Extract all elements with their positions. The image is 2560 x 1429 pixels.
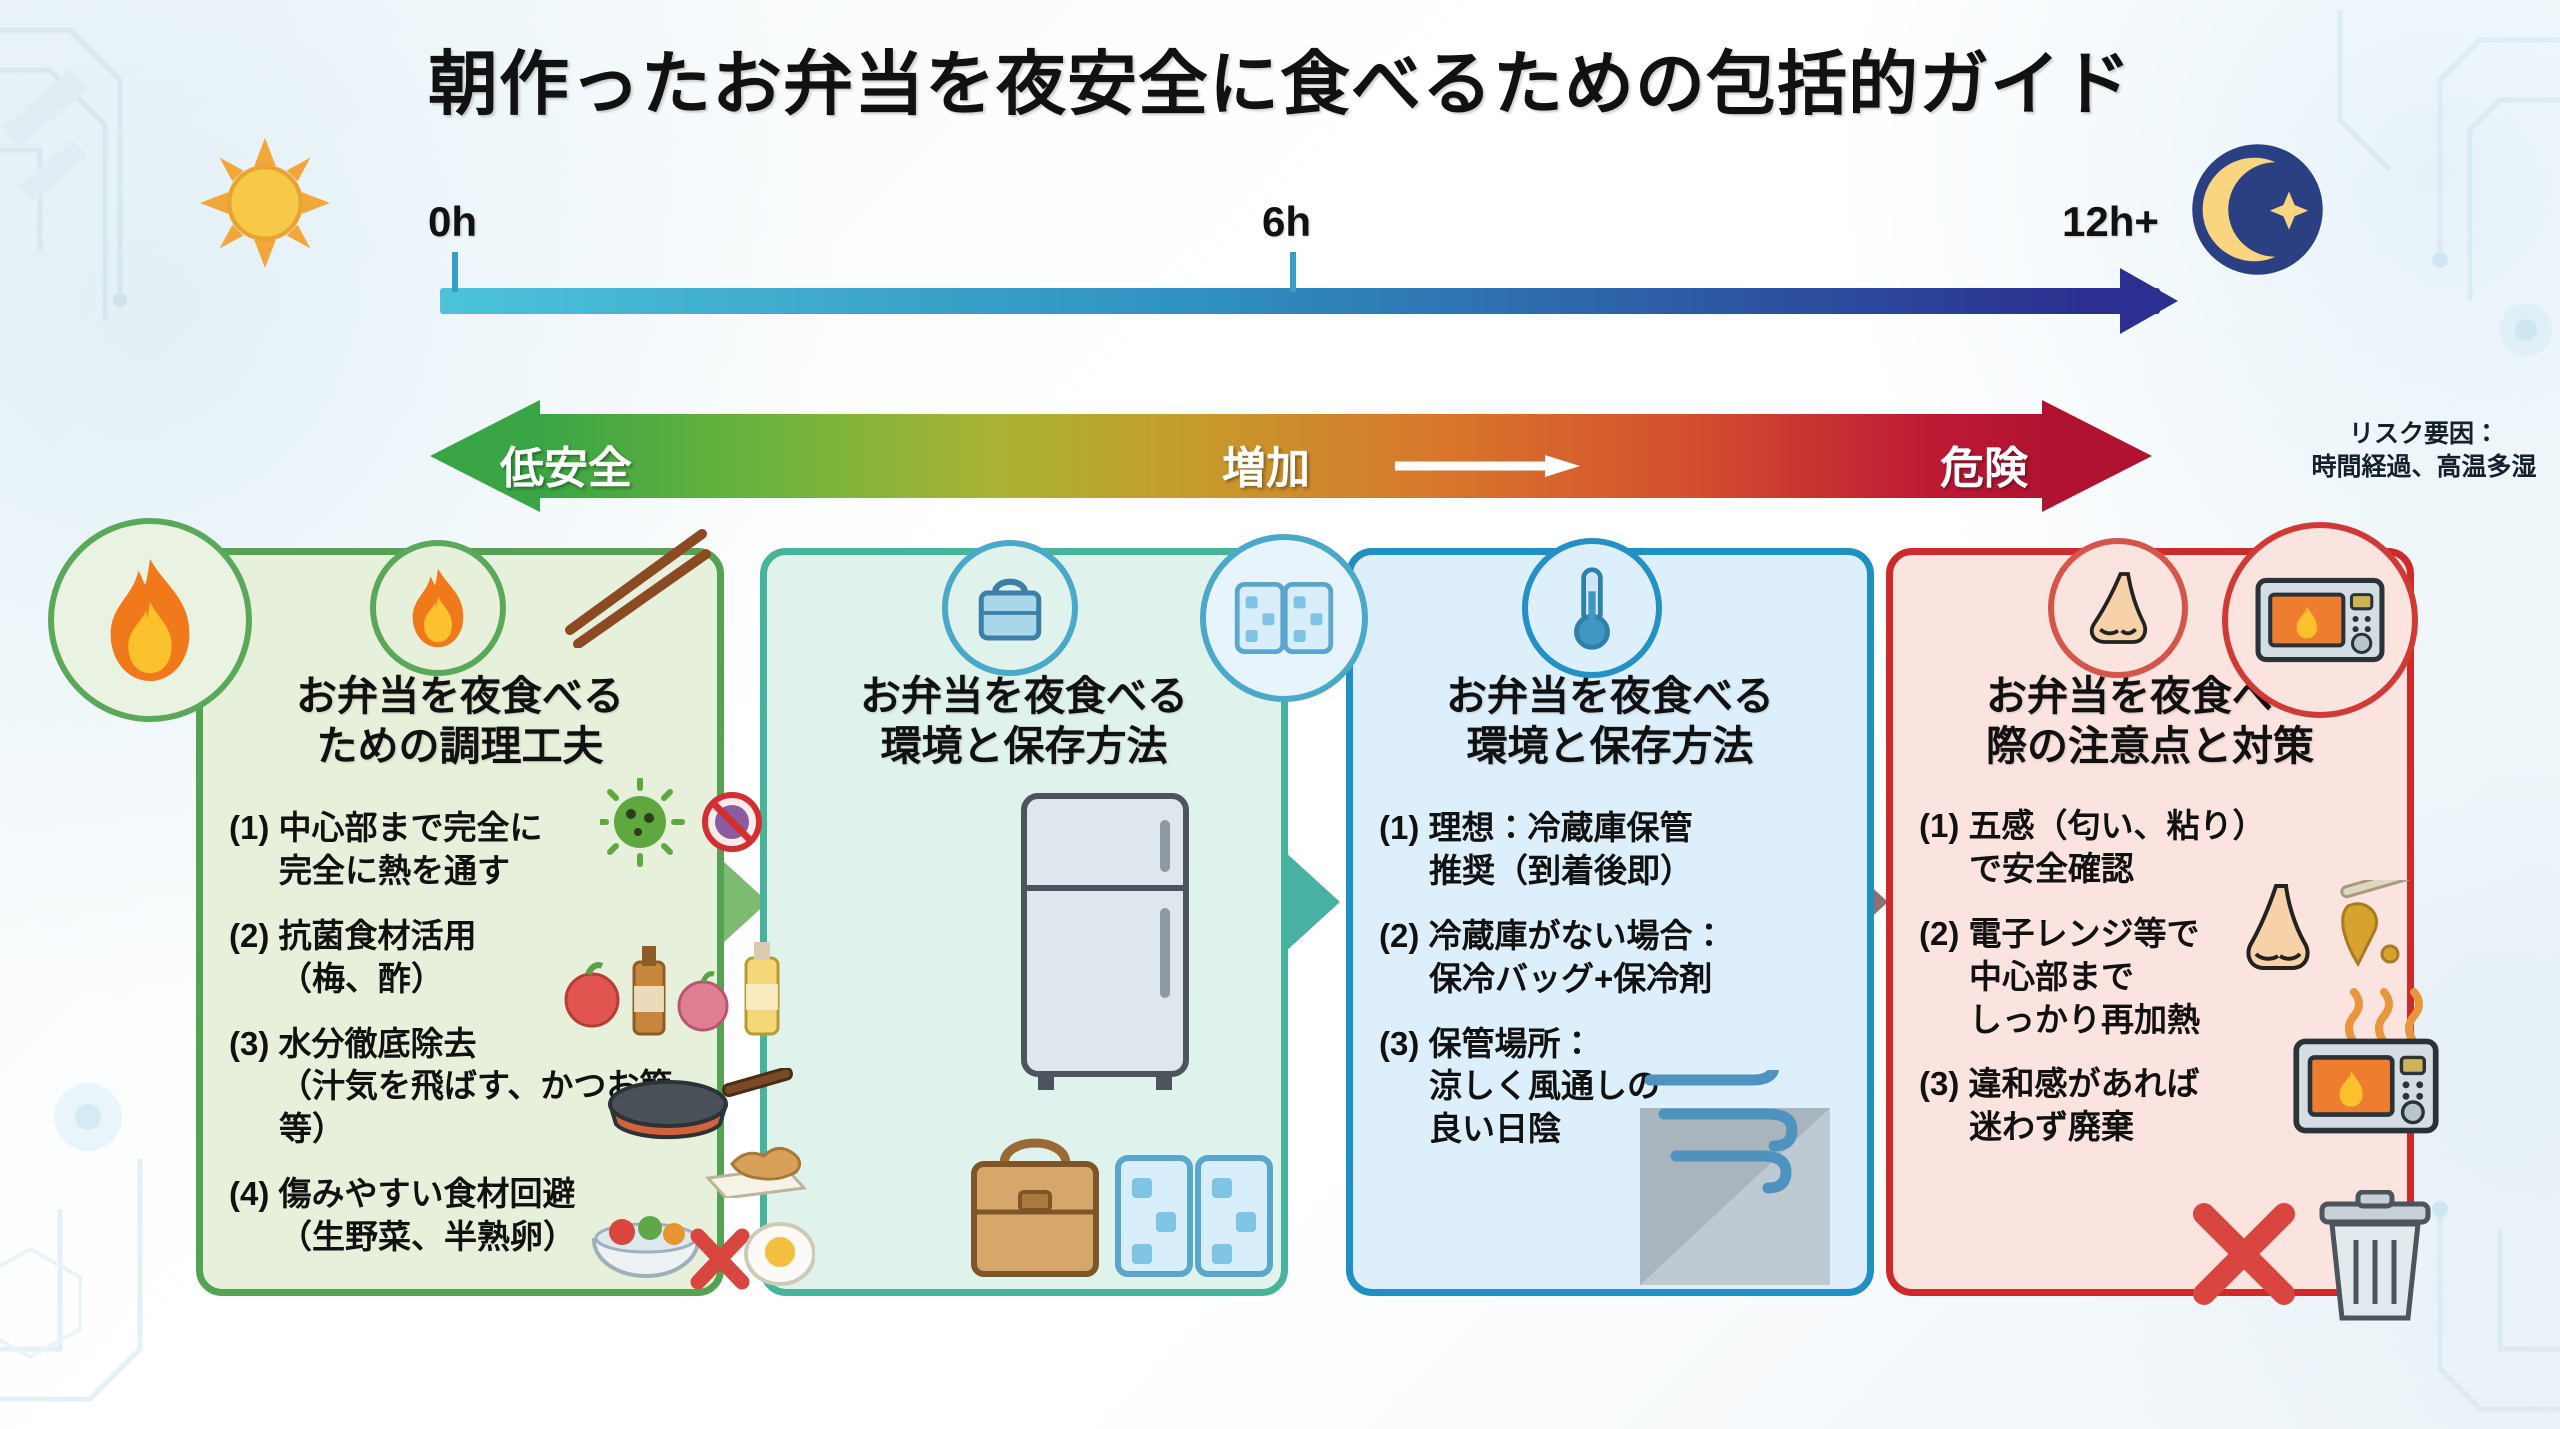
timeline-tick-0h <box>452 252 458 292</box>
salad-egg-cross-icons <box>590 1188 815 1303</box>
card-title-line: お弁当を夜食べる <box>787 671 1261 721</box>
card-1-title: お弁当を夜食べるための調理工夫 <box>223 671 697 771</box>
lunch-bag-badge <box>942 540 1078 676</box>
fire-icon <box>90 555 210 685</box>
thermometer-badge <box>1522 538 1662 678</box>
page-title: 朝作ったお弁当を夜安全に食べるための包括的ガイド <box>0 28 2560 129</box>
list-item-sub: 推奨（到着後即） <box>1379 850 1849 893</box>
card-title-line: ための調理工夫 <box>223 721 697 771</box>
microwave-icon <box>2290 1030 2442 1142</box>
germ-icons <box>600 778 785 868</box>
card-2-title: お弁当を夜食べる環境と保存方法 <box>787 671 1261 771</box>
nose-and-sticky-icons <box>2230 880 2430 990</box>
wind-shade-icon <box>1640 1070 1830 1285</box>
thermometer-icon <box>1557 565 1627 651</box>
list-item: (1) 五感（匂い、粘り）で安全確認 <box>1919 805 2389 891</box>
card-title-line: 環境と保存方法 <box>787 721 1261 771</box>
microwave-badge <box>2222 522 2418 718</box>
risk-label-low: 低安全 <box>500 432 632 496</box>
list-item-main: (1) 五感（匂い、粘り） <box>1919 805 2389 848</box>
right-arrow-icon <box>1395 455 1580 477</box>
list-item-main: (3) 保管場所： <box>1379 1023 1849 1066</box>
fire-badge-small <box>370 540 506 676</box>
timeline-tick-6h <box>1290 252 1296 292</box>
chopsticks-icon <box>556 518 716 648</box>
card-title-line: 際の注意点と対策 <box>1913 721 2387 771</box>
list-item: (2) 冷蔵庫がない場合：保冷バッグ+保冷剤 <box>1379 915 1849 1001</box>
nose-icon <box>2080 569 2156 647</box>
card-title-line: 環境と保存方法 <box>1373 721 1847 771</box>
timeline-arrow-head-icon <box>2120 268 2178 334</box>
card-3-title: お弁当を夜食べる環境と保存方法 <box>1373 671 1847 771</box>
card-title-line: お弁当を夜食べる <box>1373 671 1847 721</box>
risk-factors-value: 時間経過、高温多湿 <box>2290 451 2558 484</box>
ice-pack-badge <box>1200 534 1368 702</box>
timeline-label-12h: 12h+ <box>2062 198 2159 246</box>
food-ingredients-icons <box>560 928 795 1048</box>
fire-icon <box>400 566 476 650</box>
list-item: (1) 理想：冷蔵庫保管推奨（到着後即） <box>1379 807 1849 893</box>
fire-badge-large <box>48 518 252 722</box>
timeline-bar <box>440 288 2160 314</box>
lunch-bag-and-ice-packs-icons <box>960 1120 1290 1295</box>
risk-factors: リスク要因： 時間経過、高温多湿 <box>2290 418 2558 484</box>
risk-arrow-right-head-icon <box>2042 400 2152 512</box>
list-item-sub: 保冷バッグ+保冷剤 <box>1379 958 1849 1001</box>
refrigerator-icon <box>1010 790 1200 1090</box>
microwave-icon <box>2254 570 2386 670</box>
list-item-main: (2) 冷蔵庫がない場合： <box>1379 915 1849 958</box>
timeline-label-0h: 0h <box>428 198 477 246</box>
timeline-label-6h: 6h <box>1262 198 1311 246</box>
nose-badge <box>2048 538 2188 678</box>
trash-icon <box>2310 1190 2440 1325</box>
ice-pack-icon <box>1230 570 1338 666</box>
risk-label-high: 危険 <box>1940 432 2028 496</box>
risk-factors-label: リスク要因： <box>2290 418 2558 451</box>
lunch-bag-icon <box>972 568 1048 648</box>
risk-label-mid: 増加 <box>1222 432 1310 496</box>
cross-mark-icon <box>2188 1198 2300 1310</box>
card-title-line: お弁当を夜食べる <box>223 671 697 721</box>
list-item-main: (1) 理想：冷蔵庫保管 <box>1379 807 1849 850</box>
frying-pan-and-bonito-flakes-icons <box>600 1068 835 1198</box>
